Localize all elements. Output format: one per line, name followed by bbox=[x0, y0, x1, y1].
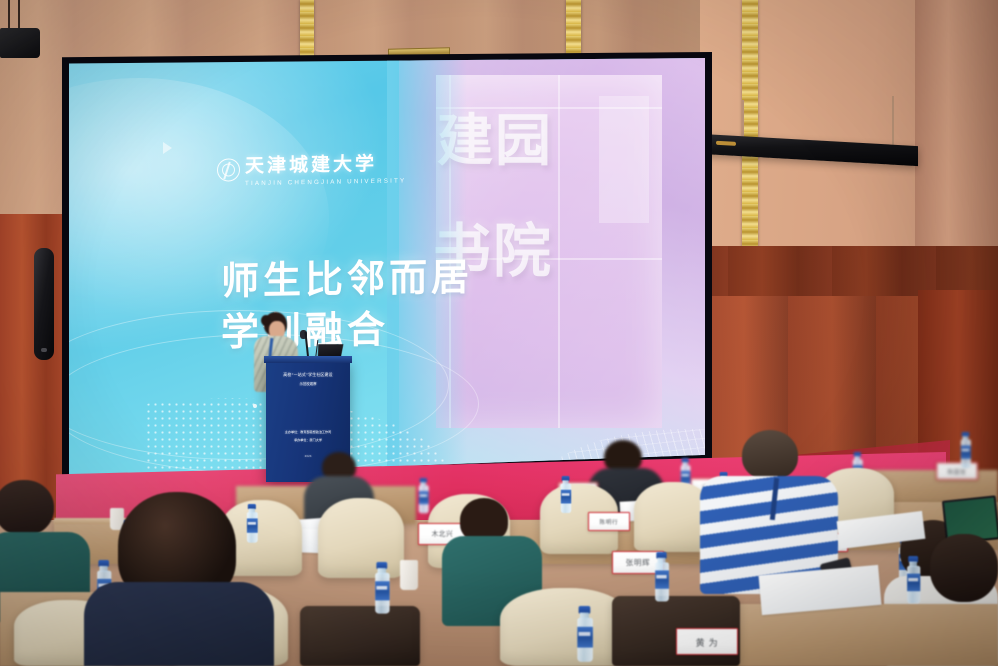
attendee-head-foreground-right bbox=[930, 534, 998, 602]
led-presentation-screen[interactable]: 建园 书院 天津城建大学 TIANJIN CHENGJIAN UNIVERSIT… bbox=[69, 58, 705, 478]
lectern-organizer: 主办单位：教育部思想政治工作司 bbox=[266, 430, 350, 435]
chair-back-m3 bbox=[318, 498, 404, 578]
table-row: 陈明行 bbox=[588, 512, 630, 531]
placard-name: 黄 为 bbox=[696, 635, 719, 648]
lectern-subtitle: 示范校观摩 bbox=[266, 382, 350, 387]
placard-name: 陈明行 bbox=[600, 517, 619, 526]
speaker-icon-top-left bbox=[0, 28, 40, 58]
conference-hall-photo: 建园 书院 天津城建大学 TIANJIN CHENGJIAN UNIVERSIT… bbox=[0, 0, 998, 666]
lectern-host: 承办单位：厦门大学 bbox=[266, 438, 350, 443]
chair-back-f4-dark bbox=[300, 606, 420, 666]
bottle-label bbox=[907, 574, 920, 592]
lectern-top bbox=[264, 356, 352, 363]
slide-university-logo: 天津城建大学 TIANJIN CHENGJIAN UNIVERSITY bbox=[217, 148, 406, 187]
attendee-head-left-curly bbox=[0, 480, 54, 536]
slide-headline-line-1: 师生比邻而居 bbox=[221, 252, 473, 308]
paper-cup bbox=[400, 560, 418, 590]
bottle-label bbox=[655, 570, 669, 588]
placard-name: 张明辉 bbox=[626, 557, 651, 567]
play-triangle-icon bbox=[163, 142, 172, 154]
bottle-label bbox=[246, 518, 257, 532]
desk-row-front-right bbox=[700, 604, 998, 666]
university-seal-icon bbox=[217, 158, 240, 181]
lectern-title: 高校“一站式”学生社区建设 bbox=[266, 372, 350, 378]
table-row: 黄 为 bbox=[676, 628, 738, 655]
placard-name: 木北兴 bbox=[431, 529, 453, 539]
speaker-cable-b bbox=[18, 0, 20, 30]
bottle-label bbox=[577, 627, 593, 648]
attendee-torso-foreground-navy bbox=[84, 582, 274, 666]
table-row: 陈国宝 bbox=[936, 462, 978, 480]
speaker-icon-left-column bbox=[34, 248, 54, 360]
speaker-cable-a bbox=[8, 0, 10, 30]
light-hanger-right bbox=[892, 96, 894, 146]
bottle-label bbox=[375, 581, 389, 600]
attendee-head-striped bbox=[742, 430, 798, 480]
bottle-label bbox=[960, 445, 970, 458]
light-bar-indicator bbox=[716, 141, 736, 146]
logo-name-cn: 天津城建大学 bbox=[245, 148, 406, 178]
bottle-label bbox=[560, 490, 570, 504]
bottle-label bbox=[418, 491, 428, 504]
chair-back-f3 bbox=[500, 588, 630, 666]
